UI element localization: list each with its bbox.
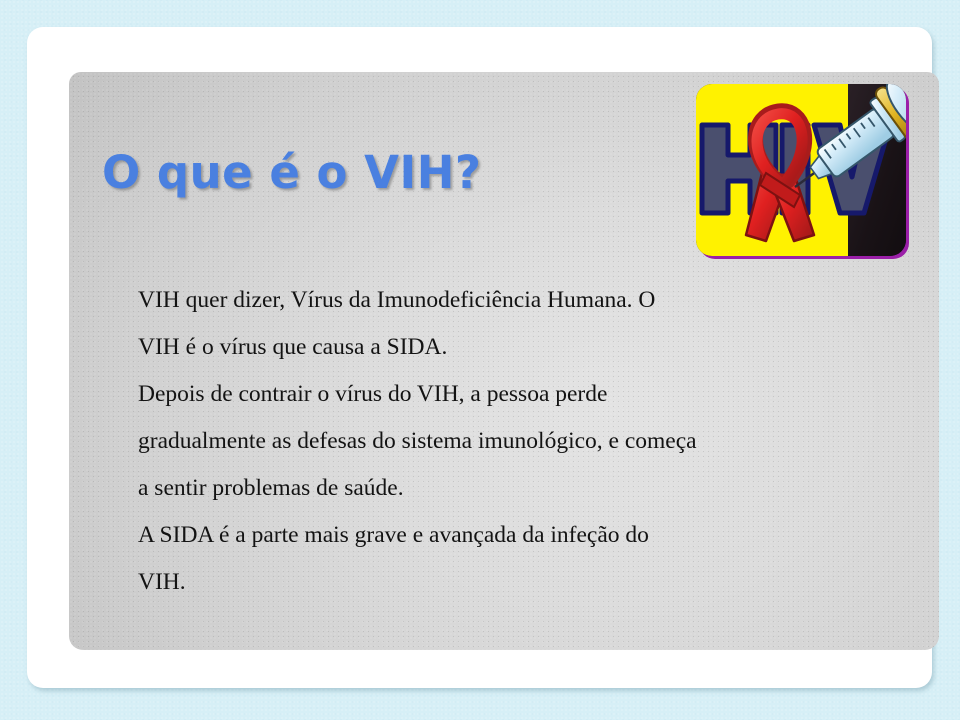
slide-root: O que é o VIH? VIH quer dizer, Vírus da … xyxy=(0,0,960,720)
slide-card-frame: O que é o VIH? VIH quer dizer, Vírus da … xyxy=(27,27,932,688)
body-line: a sentir problemas de saúde. xyxy=(138,465,718,512)
body-line: gradualmente as defesas do sistema imuno… xyxy=(138,418,718,465)
image-inner xyxy=(696,77,912,256)
body-line: Depois de contrair o vírus do VIH, a pes… xyxy=(138,371,718,418)
hiv-awareness-image xyxy=(654,77,912,264)
body-line: A SIDA é a parte mais grave e avançada d… xyxy=(138,512,718,559)
body-line: VIH é o vírus que causa a SIDA. xyxy=(138,324,718,371)
body-line: VIH quer dizer, Vírus da Imunodeficiênci… xyxy=(138,277,718,324)
body-line: VIH. xyxy=(138,559,718,606)
page-title: O que é o VIH? xyxy=(102,146,481,199)
slide-content-panel: O que é o VIH? VIH quer dizer, Vírus da … xyxy=(69,72,939,650)
body-text-block: VIH quer dizer, Vírus da Imunodeficiênci… xyxy=(138,277,718,606)
